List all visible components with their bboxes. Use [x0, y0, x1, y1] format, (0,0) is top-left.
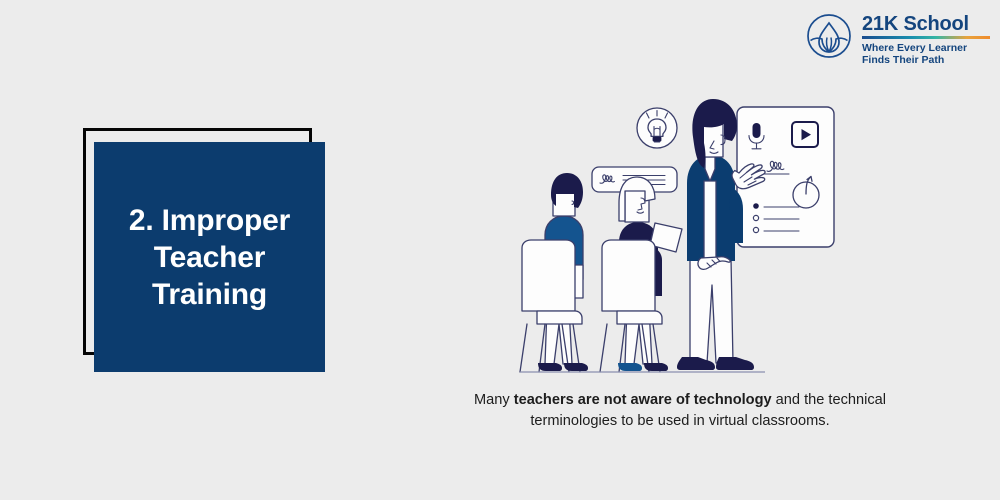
logo-tagline-line1: Where Every Learner — [862, 42, 990, 55]
logo-name: 21K School — [862, 14, 990, 34]
teacher-training-classroom-illustration: .ln{fill:none;stroke:#3b3f6b;stroke-widt… — [515, 95, 845, 380]
caption-lead: Many — [474, 392, 514, 408]
caption-emphasis: teachers are not aware of technology — [514, 392, 772, 408]
logo-tagline: Where Every Learner Finds Their Path — [862, 42, 990, 67]
student-figure-1 — [520, 173, 588, 372]
brand-logo: 21K School Where Every Learner Finds The… — [805, 12, 995, 64]
student-figure-2 — [600, 177, 682, 372]
lightbulb-idea-icon — [637, 108, 677, 148]
page-title: 2. Improper Teacher Training — [94, 202, 325, 313]
play-button-icon — [792, 122, 818, 147]
logo-wordmark: 21K School Where Every Learner Finds The… — [862, 12, 990, 67]
caption-text: Many teachers are not aware of technolog… — [455, 390, 905, 432]
logo-tagline-line2: Finds Their Path — [862, 54, 990, 67]
lotus-in-circle-icon — [805, 12, 853, 60]
logo-gradient-rule — [862, 36, 990, 39]
title-card: 2. Improper Teacher Training — [94, 142, 325, 372]
